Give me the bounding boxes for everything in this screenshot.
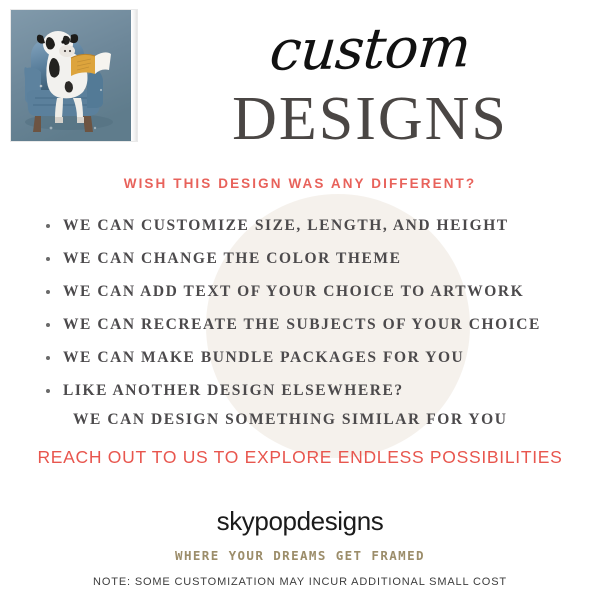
list-item: WE CAN RECREATE THE SUBJECTS OF YOUR CHO… xyxy=(42,313,572,337)
bullet-dot-icon xyxy=(46,389,50,393)
bullet-dot-icon xyxy=(46,290,50,294)
headline-block: custom DESIGNS xyxy=(150,18,590,152)
list-item-label: WE CAN DESIGN SOMETHING SIMILAR FOR YOU xyxy=(73,411,508,428)
list-item-label: WE CAN MAKE BUNDLE PACKAGES FOR YOU xyxy=(63,349,464,366)
call-to-action-text: REACH OUT TO US TO EXPLORE ENDLESS POSSI… xyxy=(0,447,600,468)
bullet-dot-icon xyxy=(46,323,50,327)
list-item: WE CAN ADD TEXT OF YOUR CHOICE TO ARTWOR… xyxy=(42,280,572,304)
bullet-dot-icon xyxy=(46,257,50,261)
list-item: WE CAN CUSTOMIZE SIZE, LENGTH, AND HEIGH… xyxy=(42,214,572,238)
title-script-word: custom xyxy=(147,14,593,86)
page-title: DESIGNS xyxy=(150,86,590,152)
list-item-label: WE CAN CHANGE THE COLOR THEME xyxy=(63,250,402,267)
list-item-label: WE CAN CUSTOMIZE SIZE, LENGTH, AND HEIGH… xyxy=(63,217,509,234)
footnote-text: NOTE: SOME CUSTOMIZATION MAY INCUR ADDIT… xyxy=(0,576,600,588)
cow-painting-image xyxy=(11,10,131,141)
list-item: WE CAN CHANGE THE COLOR THEME xyxy=(42,247,572,271)
poster-canvas: custom DESIGNS WISH THIS DESIGN WAS ANY … xyxy=(0,0,600,600)
list-item: LIKE ANOTHER DESIGN ELSEWHERE? xyxy=(42,379,572,403)
bullet-dot-icon xyxy=(46,224,50,228)
feature-list: WE CAN CUSTOMIZE SIZE, LENGTH, AND HEIGH… xyxy=(42,214,572,441)
list-item-label: WE CAN ADD TEXT OF YOUR CHOICE TO ARTWOR… xyxy=(63,283,524,300)
brand-tagline: WHERE YOUR DREAMS GET FRAMED xyxy=(0,548,600,563)
subtitle-question: WISH THIS DESIGN WAS ANY DIFFERENT? xyxy=(0,176,600,191)
bullet-dot-icon xyxy=(46,356,50,360)
list-item: WE CAN MAKE BUNDLE PACKAGES FOR YOU xyxy=(42,346,572,370)
brand-name: skypopdesigns xyxy=(0,506,600,537)
artwork-thumbnail[interactable] xyxy=(11,10,137,141)
list-item-label: WE CAN RECREATE THE SUBJECTS OF YOUR CHO… xyxy=(63,316,541,333)
list-item-continuation: WE CAN DESIGN SOMETHING SIMILAR FOR YOU xyxy=(42,408,572,432)
cow-in-armchair-illustration xyxy=(11,10,131,141)
list-item-label: LIKE ANOTHER DESIGN ELSEWHERE? xyxy=(63,382,404,399)
canvas-edge xyxy=(131,10,137,141)
